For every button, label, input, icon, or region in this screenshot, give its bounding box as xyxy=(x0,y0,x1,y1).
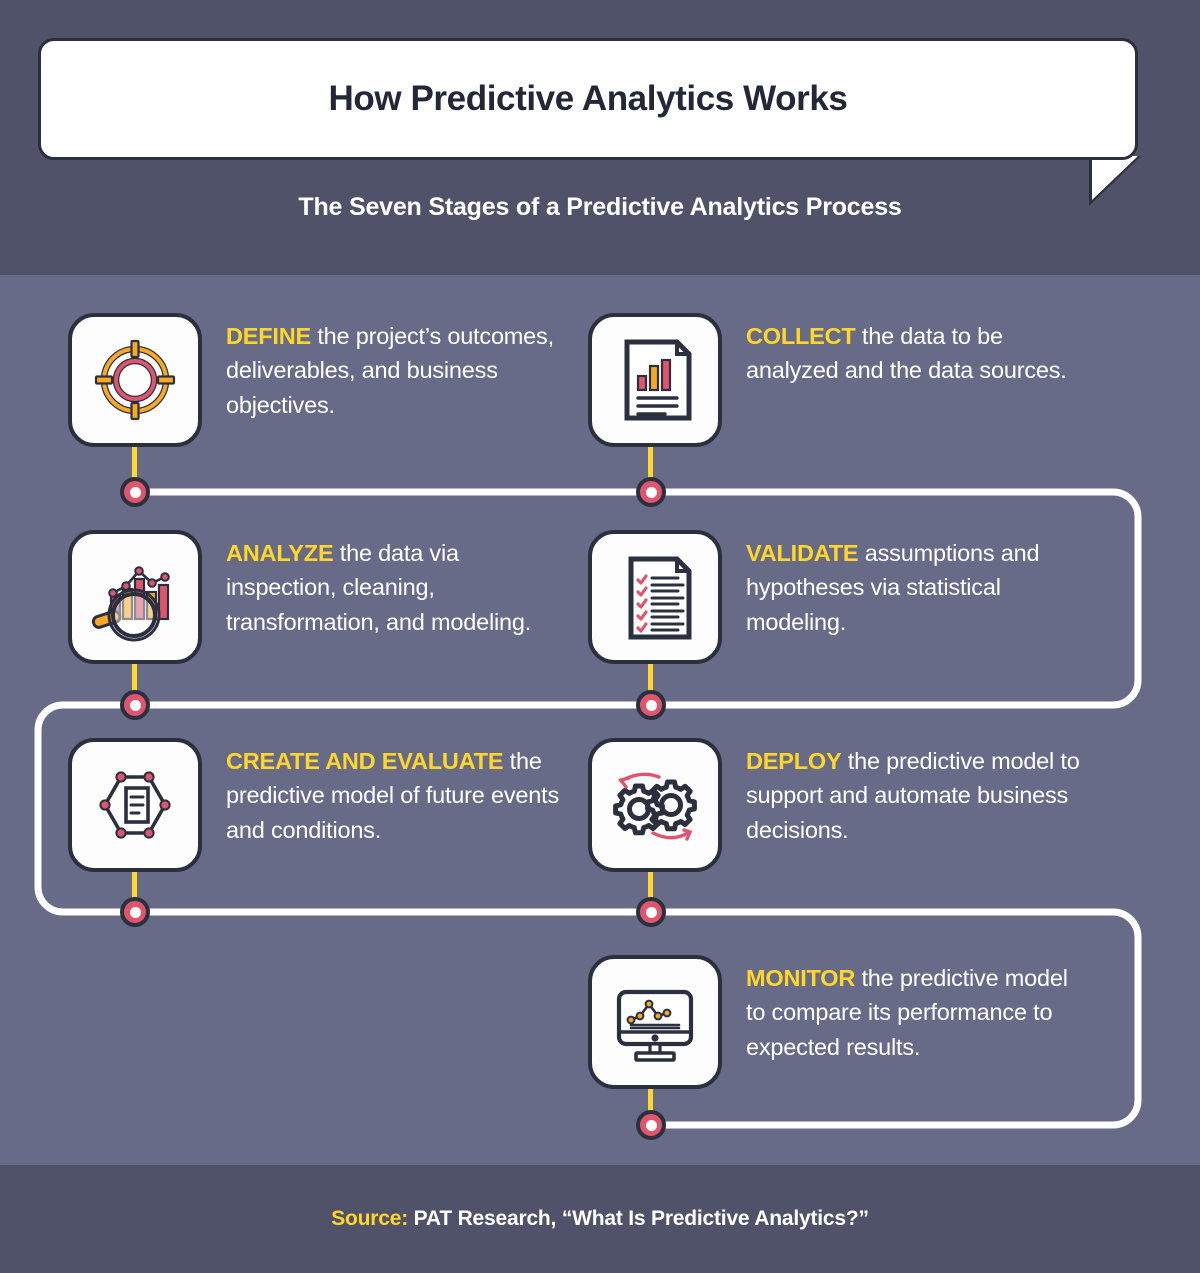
node-validate xyxy=(636,690,666,720)
source-label: Source: xyxy=(331,1207,408,1230)
stage-keyword: COLLECT xyxy=(746,323,856,349)
stage-text: VALIDATE assumptions and hypotheses via … xyxy=(746,536,1091,639)
stem-analyze xyxy=(132,664,137,692)
stem-collect xyxy=(648,447,653,479)
node-analyze xyxy=(120,690,150,720)
stage-icon-card xyxy=(588,530,722,664)
stage-icon-card xyxy=(68,738,202,872)
stem-define xyxy=(132,447,137,479)
speech-bubble-tail xyxy=(1092,156,1138,200)
stem-deploy xyxy=(648,872,653,900)
stage-keyword: DEPLOY xyxy=(746,748,841,774)
page-title: How Predictive Analytics Works xyxy=(328,79,847,119)
source-text: PAT Research, “What Is Predictive Analyt… xyxy=(408,1207,869,1230)
document-chart-icon xyxy=(605,330,705,430)
stage-text: COLLECT the data to be analyzed and the … xyxy=(746,319,1091,388)
checklist-document-icon xyxy=(605,547,705,647)
stage-validate[interactable]: VALIDATE assumptions and hypotheses via … xyxy=(588,530,1091,664)
stage-create-and-evaluate[interactable]: CREATE AND EVALUATE the predictive model… xyxy=(68,738,571,872)
gears-icon xyxy=(603,753,707,857)
source-attribution: Source: PAT Research, “What Is Predictiv… xyxy=(331,1207,869,1231)
title-speech-bubble: How Predictive Analytics Works xyxy=(38,38,1138,160)
stage-keyword: MONITOR xyxy=(746,965,855,991)
infographic-root: How Predictive Analytics Works The Seven… xyxy=(0,0,1200,1273)
stage-icon-card xyxy=(68,313,202,447)
stem-validate xyxy=(648,664,653,692)
stage-analyze[interactable]: ANALYZE the data via inspection, cleanin… xyxy=(68,530,571,664)
magnifier-chart-icon xyxy=(83,545,187,649)
stage-text: MONITOR the predictive model to compare … xyxy=(746,961,1091,1064)
stage-text: ANALYZE the data via inspection, cleanin… xyxy=(226,536,571,639)
stage-monitor[interactable]: MONITOR the predictive model to compare … xyxy=(588,955,1091,1089)
node-deploy xyxy=(636,897,666,927)
node-define xyxy=(120,477,150,507)
node-collect xyxy=(636,477,666,507)
stage-icon-card xyxy=(68,530,202,664)
stage-icon-card xyxy=(588,955,722,1089)
hexagon-network-icon xyxy=(85,755,185,855)
node-monitor xyxy=(636,1110,666,1140)
stage-keyword: VALIDATE xyxy=(746,540,858,566)
stage-text: DEPLOY the predictive model to support a… xyxy=(746,744,1091,847)
target-icon xyxy=(85,330,185,430)
monitor-chart-icon xyxy=(603,970,707,1074)
footer-band: Source: PAT Research, “What Is Predictiv… xyxy=(0,1165,1200,1273)
stage-text: DEFINE the project’s outcomes, deliverab… xyxy=(226,319,571,422)
stage-deploy[interactable]: DEPLOY the predictive model to support a… xyxy=(588,738,1091,872)
stage-keyword: CREATE AND EVALUATE xyxy=(226,748,503,774)
stage-keyword: ANALYZE xyxy=(226,540,333,566)
stage-define[interactable]: DEFINE the project’s outcomes, deliverab… xyxy=(68,313,571,447)
stage-icon-card xyxy=(588,313,722,447)
stage-icon-card xyxy=(588,738,722,872)
stage-text: CREATE AND EVALUATE the predictive model… xyxy=(226,744,571,847)
stage-collect[interactable]: COLLECT the data to be analyzed and the … xyxy=(588,313,1091,447)
node-create xyxy=(120,897,150,927)
page-subtitle: The Seven Stages of a Predictive Analyti… xyxy=(0,193,1200,222)
stem-create xyxy=(132,872,137,900)
stage-keyword: DEFINE xyxy=(226,323,311,349)
